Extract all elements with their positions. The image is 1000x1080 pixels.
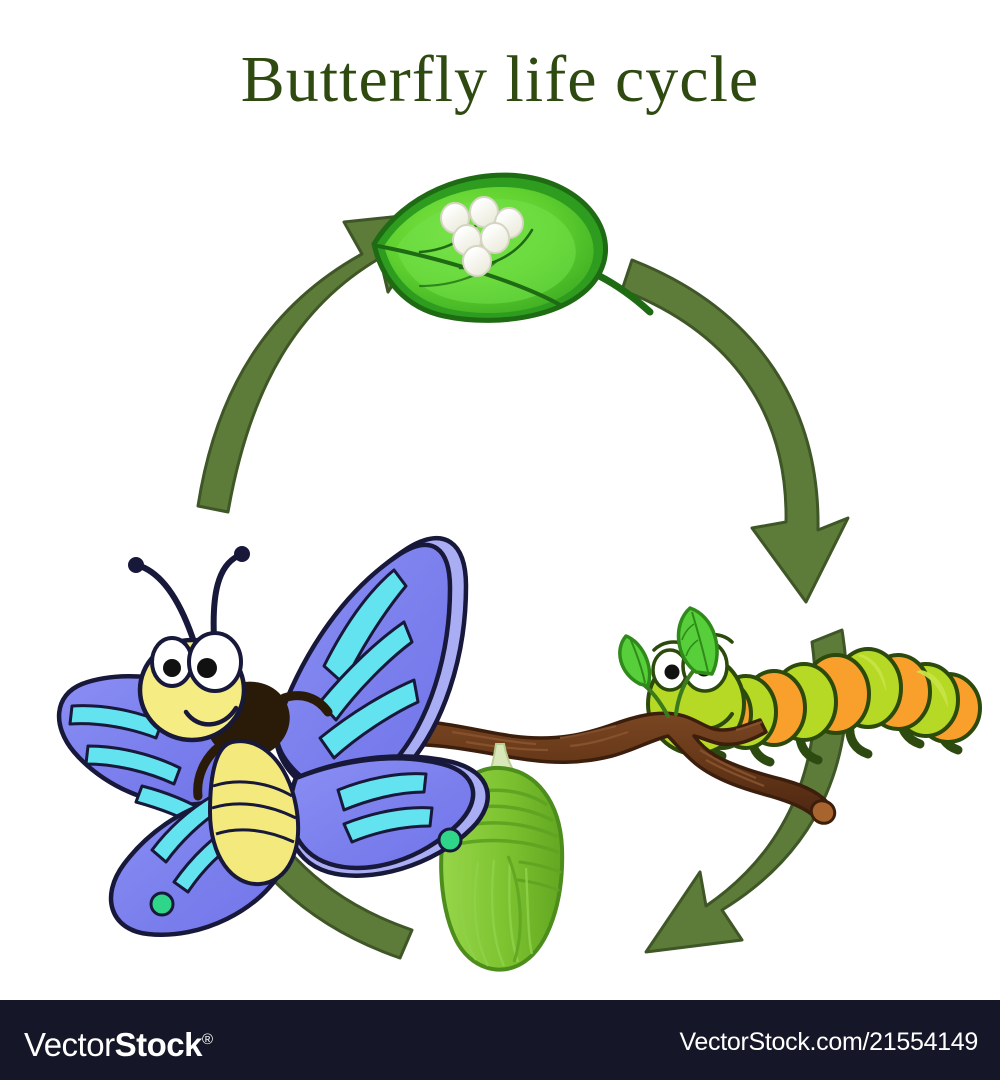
page-title: Butterfly life cycle [0, 44, 1000, 116]
logo-word-vector: Vector [24, 1026, 115, 1063]
antenna-bulb-left [128, 557, 144, 573]
wing-dot-left [151, 893, 173, 915]
vectorstock-url: VectorStock.com/21554149 [679, 1027, 978, 1057]
sprout-leaf-left [620, 636, 650, 686]
butterfly-antennae [140, 556, 238, 642]
arrow-eggs-to-caterpillar [622, 260, 848, 602]
butterfly-life-cycle-diagram [0, 150, 1000, 990]
illustration-canvas: Butterfly life cycle [0, 0, 1000, 1080]
antenna-bulb-right [234, 546, 250, 562]
vectorstock-logo: VectorStock® [24, 1020, 213, 1065]
butterfly-head [140, 633, 244, 740]
logo-word-stock: Stock [115, 1026, 202, 1063]
stage-butterfly [59, 538, 488, 935]
wing-dot-right [439, 829, 461, 851]
registered-mark-icon: ® [202, 1031, 213, 1048]
stage-eggs-on-leaf [372, 175, 650, 329]
